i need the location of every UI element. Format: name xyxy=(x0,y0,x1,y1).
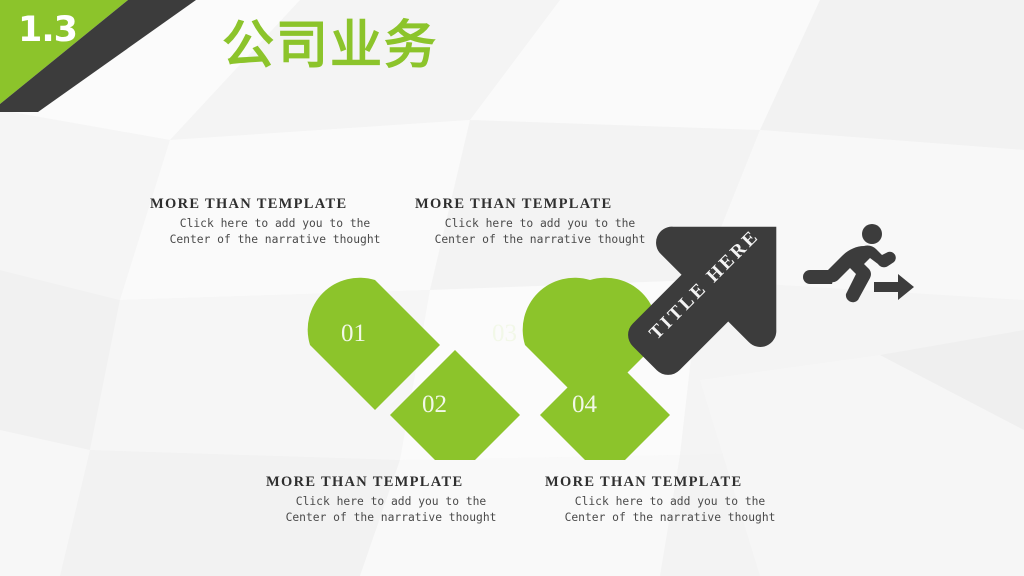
running-person-glyph xyxy=(798,222,918,312)
caption-top-left: MORE THAN TEMPLATE Click here to add you… xyxy=(150,196,400,249)
caption-title: MORE THAN TEMPLATE xyxy=(545,474,795,491)
caption-title: MORE THAN TEMPLATE xyxy=(266,474,516,491)
caption-line-2: Center of the narrative thought xyxy=(266,510,516,526)
slide-number-badge: 1.3 xyxy=(0,0,210,112)
caption-line-2: Center of the narrative thought xyxy=(150,232,400,248)
caption-line-1: Click here to add you to the xyxy=(266,494,516,510)
caption-title: MORE THAN TEMPLATE xyxy=(150,196,400,213)
caption-line-1: Click here to add you to the xyxy=(545,494,795,510)
caption-bottom-left: MORE THAN TEMPLATE Click here to add you… xyxy=(266,474,516,527)
slide-number-text: 1.3 xyxy=(18,13,77,48)
caption-line-2: Center of the narrative thought xyxy=(545,510,795,526)
running-person-icon xyxy=(798,222,918,312)
arrow-up-right-icon xyxy=(612,196,802,396)
caption-bottom-right: MORE THAN TEMPLATE Click here to add you… xyxy=(545,474,795,527)
caption-line-1: Click here to add you to the xyxy=(150,216,400,232)
title-arrow[interactable]: TITLE HERE xyxy=(612,196,802,396)
page-title: 公司业务 xyxy=(222,17,438,77)
slide-canvas: 1.3 公司业务 MORE THAN TEMPLATE Click here t… xyxy=(0,0,1024,576)
